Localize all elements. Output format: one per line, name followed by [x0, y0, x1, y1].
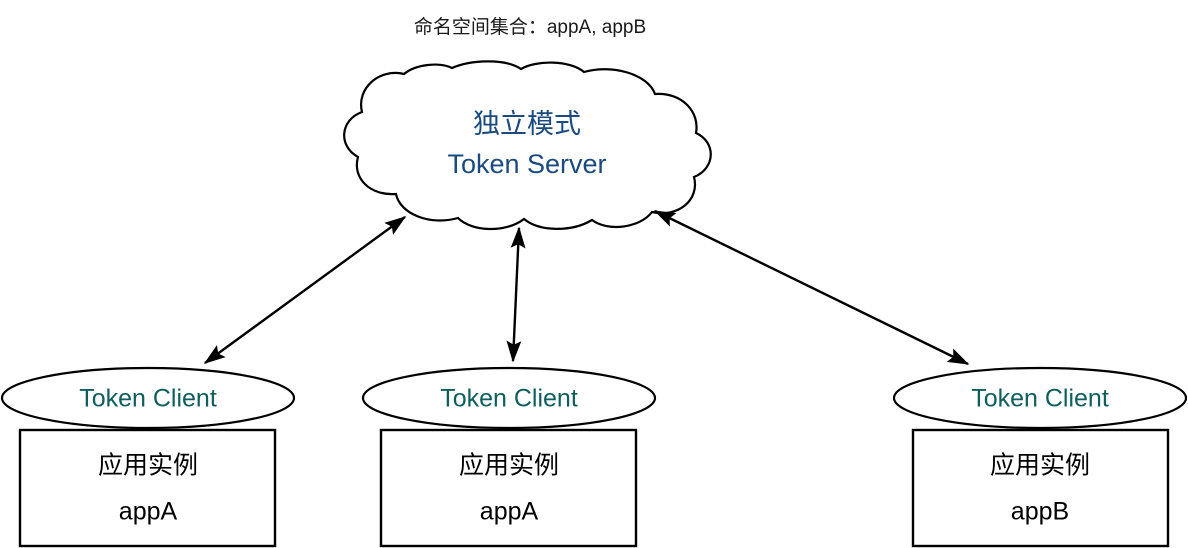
- app-instance-label-2-line2: appB: [1011, 498, 1069, 526]
- app-instance-label-0-line1: 应用实例: [98, 452, 198, 480]
- cloud-shape: [344, 61, 711, 229]
- app-instance-label-0-line2: appA: [119, 498, 178, 526]
- node-group-2: Token Client 应用实例 appB: [894, 368, 1186, 546]
- cloud-label-line1: 独立模式: [473, 109, 581, 139]
- token-client-label-2: Token Client: [971, 385, 1109, 413]
- token-server-cloud[interactable]: 独立模式 Token Server: [344, 61, 711, 229]
- app-instance-label-1-line1: 应用实例: [459, 452, 559, 480]
- node-group-0: Token Client 应用实例 appA: [2, 368, 294, 546]
- architecture-diagram: 命名空间集合：appA, appB 独立模式 Token Server Toke…: [0, 0, 1188, 548]
- app-instance-box-0[interactable]: [20, 430, 275, 546]
- app-instance-label-2-line1: 应用实例: [990, 452, 1090, 480]
- cloud-label-line2: Token Server: [447, 149, 606, 179]
- diagram-canvas: 命名空间集合：appA, appB 独立模式 Token Server Toke…: [0, 0, 1188, 548]
- connector-server-node-0[interactable]: [205, 217, 405, 363]
- token-client-label-0: Token Client: [79, 385, 217, 413]
- connector-server-node-2[interactable]: [655, 211, 968, 364]
- app-instance-box-1[interactable]: [381, 430, 636, 546]
- app-instance-box-2[interactable]: [913, 430, 1168, 546]
- connector-server-node-1[interactable]: [513, 228, 519, 361]
- app-instance-label-1-line2: appA: [480, 498, 539, 526]
- token-client-label-1: Token Client: [440, 385, 578, 413]
- diagram-title: 命名空间集合：appA, appB: [414, 16, 646, 38]
- node-group-1: Token Client 应用实例 appA: [363, 368, 655, 546]
